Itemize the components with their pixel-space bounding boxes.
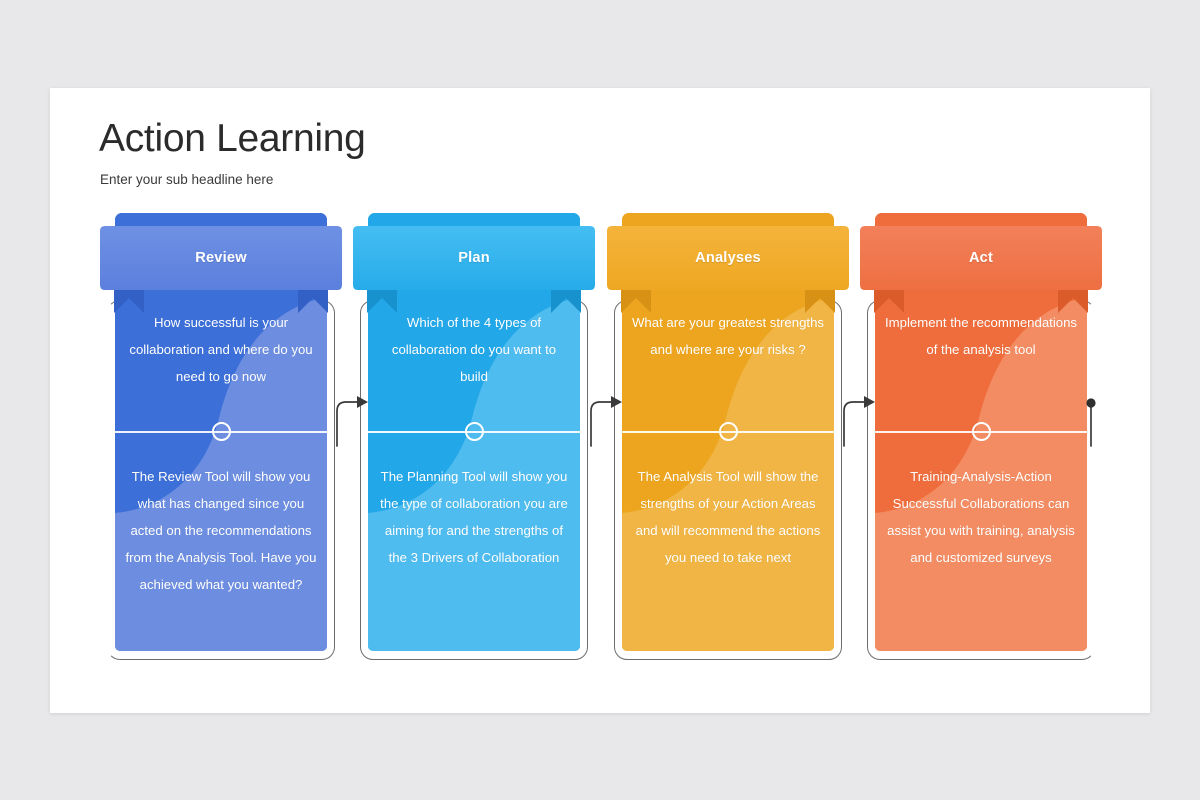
column-ribbon: Review [96,225,346,290]
column-ribbon: Act [856,225,1106,290]
circle-outline-icon [719,422,738,441]
column-ribbon: Analyses [603,225,853,290]
process-columns: How successful is your collaboration and… [50,88,1150,713]
dot-icon [1086,398,1095,407]
column-question: How successful is your collaboration and… [124,309,318,390]
connector-plan-to-analyses [554,388,624,448]
column-description: The Review Tool will show you what has c… [124,463,318,598]
column-ribbon: Plan [349,225,599,290]
connector-review-to-plan [300,388,370,448]
circle-outline-icon [212,422,231,441]
slide-canvas: Action Learning Enter your sub headline … [50,88,1150,713]
circle-outline-icon [465,422,484,441]
column-description: The Planning Tool will show you the type… [377,463,571,571]
column-description: Training-Analysis-Action Successful Coll… [884,463,1078,571]
circle-outline-icon [972,422,991,441]
connector-act-terminal [1078,388,1108,450]
column-question: Which of the 4 types of collaboration do… [377,309,571,390]
column-description: The Analysis Tool will show the strength… [631,463,825,571]
connector-analyses-to-act [807,388,877,448]
